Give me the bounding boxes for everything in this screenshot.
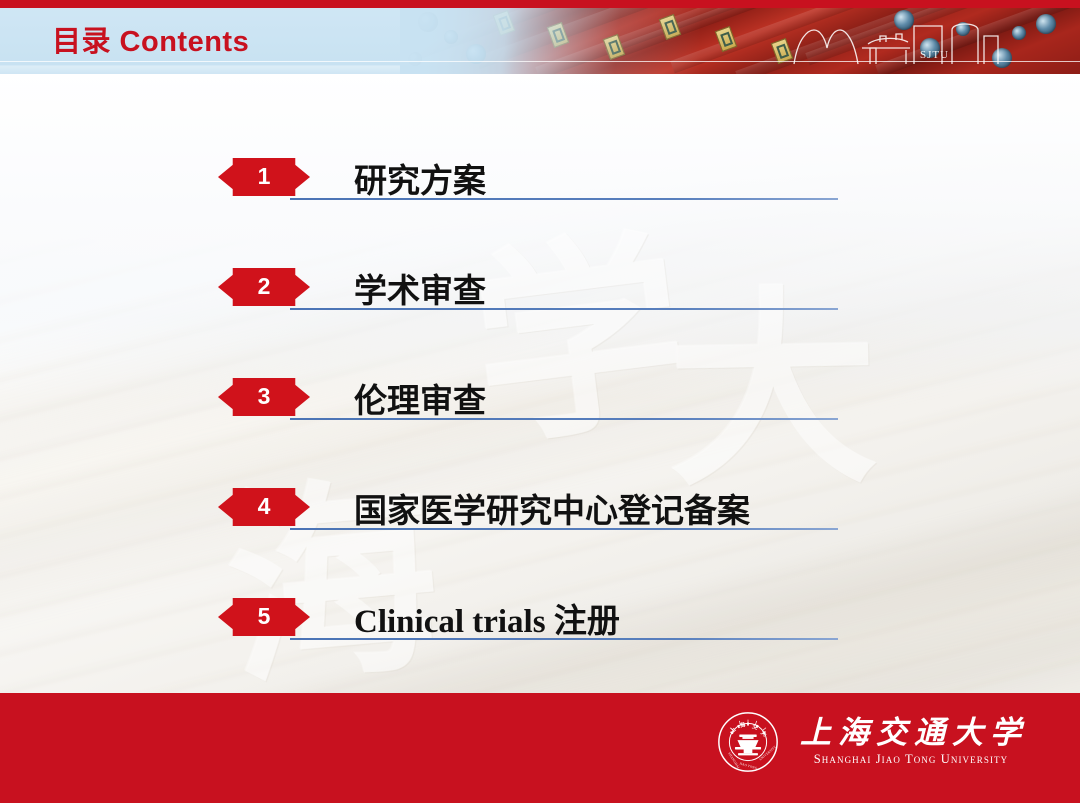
- sjtu-name-en: Shanghai Jiao Tong University: [813, 752, 1009, 767]
- item-number-badge: 5: [218, 598, 310, 636]
- contents-item-3[interactable]: 3 伦理审查: [218, 378, 838, 426]
- contents-item-5[interactable]: 5 Clinical trials 注册: [218, 598, 838, 646]
- item-number: 5: [258, 603, 271, 630]
- svg-text:大: 大: [759, 729, 769, 739]
- sjtu-name-cn: 上海交通大学: [793, 717, 1028, 750]
- slide-footer: 上 海 交 大 SHANGHAI JIAO TONG UNIVERSITY 上海…: [0, 693, 1080, 803]
- svg-text:上: 上: [728, 725, 738, 735]
- item-label: 学术审查: [354, 264, 486, 312]
- item-number: 1: [258, 163, 271, 190]
- item-label: Clinical trials 注册: [354, 594, 620, 642]
- contents-item-4[interactable]: 4 国家医学研究中心登记备案: [218, 488, 838, 536]
- item-number: 4: [258, 493, 271, 520]
- item-underline: [290, 308, 838, 310]
- sjtu-logo: 上 海 交 大 SHANGHAI JIAO TONG UNIVERSITY 上海…: [717, 711, 1028, 773]
- item-label: 研究方案: [354, 154, 486, 202]
- item-underline: [290, 418, 838, 420]
- item-underline: [290, 638, 838, 640]
- item-number: 2: [258, 273, 271, 300]
- sjtu-seal-icon: 上 海 交 大 SHANGHAI JIAO TONG UNIVERSITY: [717, 711, 779, 773]
- item-label: 国家医学研究中心登记备案: [354, 484, 750, 532]
- svg-text:JIAO TONG: JIAO TONG: [739, 761, 758, 770]
- page-title: 目录 Contents: [52, 18, 249, 60]
- item-number-badge: 2: [218, 268, 310, 306]
- contents-item-1[interactable]: 1 研究方案: [218, 158, 838, 206]
- item-label: 伦理审查: [354, 374, 486, 422]
- item-number-badge: 1: [218, 158, 310, 196]
- presentation-slide: 学大海: [0, 0, 1080, 803]
- item-number-badge: 4: [218, 488, 310, 526]
- item-number: 3: [258, 383, 271, 410]
- sjtu-logo-text: 上海交通大学 Shanghai Jiao Tong University: [793, 717, 1028, 768]
- item-number-badge: 3: [218, 378, 310, 416]
- contents-item-2[interactable]: 2 学术审查: [218, 268, 838, 316]
- contents-list: 1 研究方案 2 学术审查 3 伦理审查 4 国家医学研究中心登记备案: [0, 0, 1080, 803]
- item-underline: [290, 198, 838, 200]
- item-underline: [290, 528, 838, 530]
